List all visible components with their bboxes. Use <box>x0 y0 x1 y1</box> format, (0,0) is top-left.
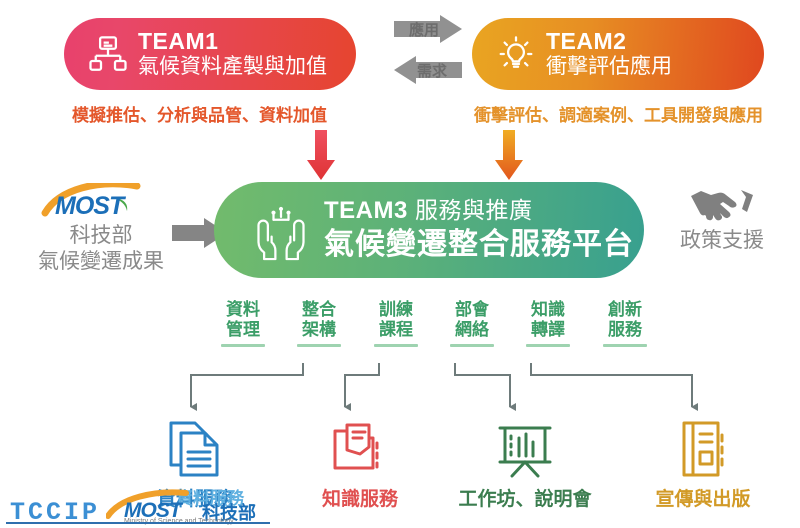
presentation-board-icon <box>450 418 600 480</box>
team2-down-arrow <box>494 130 524 182</box>
team1-code: TEAM1 <box>138 29 327 55</box>
team2-card[interactable]: TEAM2 衝擊評估應用 <box>472 18 764 90</box>
output-item-3[interactable]: 宣傳與出版 <box>628 418 778 511</box>
service-label-4[interactable]: 知識 轉譯 <box>522 300 574 347</box>
service-1-underline <box>297 344 341 347</box>
output-label-2: 工作坊、說明會 <box>450 484 600 511</box>
sitemap-icon <box>78 33 138 75</box>
team2-name: 衝擊評估應用 <box>546 55 672 79</box>
footer-most-logo: MOST 科技部 Ministry of Science and Technol… <box>106 488 266 524</box>
most-source-block: MOST 科技部 氣候變遷成果 <box>22 183 180 274</box>
output-label-1: 知識服務 <box>285 484 435 511</box>
service-0-underline <box>221 344 265 347</box>
service-0-line2: 管理 <box>217 320 269 340</box>
footer-rule <box>6 522 270 524</box>
policy-support-label: 政策支援 <box>656 228 788 254</box>
service-label-1[interactable]: 整合 架構 <box>293 300 345 347</box>
team2-code: TEAM2 <box>546 29 672 55</box>
team3-card[interactable]: TEAM3 服務與推廣 氣候變遷整合服務平台 <box>214 182 644 278</box>
arrow-down-icon <box>306 130 336 182</box>
service-5-line2: 服務 <box>599 320 651 340</box>
policy-support-block: 政策支援 <box>656 182 788 254</box>
arrow-down-icon <box>494 130 524 182</box>
output-label-3: 宣傳與出版 <box>628 484 778 511</box>
service-3-underline <box>450 344 494 347</box>
service-1-line1: 整合 <box>293 300 345 320</box>
service-label-5[interactable]: 創新 服務 <box>599 300 651 347</box>
service-label-0[interactable]: 資料 管理 <box>217 300 269 347</box>
output-item-1[interactable]: 知識服務 <box>285 418 435 511</box>
service-5-underline <box>603 344 647 347</box>
team1-caption: 模擬推估、分析與品管、資料加值 <box>72 101 327 126</box>
exchange-arrow-demand: 需求 <box>392 54 464 86</box>
exchange-arrow-apply: 應用 <box>392 13 464 45</box>
lightbulb-icon <box>486 33 546 75</box>
documents-icon <box>120 418 270 480</box>
folder-note-icon <box>285 418 435 480</box>
service-2-line1: 訓練 <box>370 300 422 320</box>
book-icon <box>628 418 778 480</box>
service-4-line1: 知識 <box>522 300 574 320</box>
team1-name: 氣候資料產製與加值 <box>138 55 327 79</box>
team3-name: 氣候變遷整合服務平台 <box>324 228 634 262</box>
most-line-2: 氣候變遷成果 <box>22 249 180 275</box>
most-line-1: 科技部 <box>22 223 180 249</box>
diagram-canvas: TEAM1 氣候資料產製與加值 模擬推估、分析與品管、資料加值 TEAM2 衝擊… <box>0 0 800 528</box>
handshake-icon <box>656 182 788 228</box>
hands-network-icon <box>238 199 324 261</box>
team3-code-row: TEAM3 服務與推廣 <box>324 198 634 225</box>
service-label-3[interactable]: 部會 網絡 <box>446 300 498 347</box>
output-item-2[interactable]: 工作坊、說明會 <box>450 418 600 511</box>
exchange-label-apply: 應用 <box>392 13 464 45</box>
team1-card[interactable]: TEAM1 氣候資料產製與加值 <box>64 18 356 90</box>
service-1-line2: 架構 <box>293 320 345 340</box>
service-0-line1: 資料 <box>217 300 269 320</box>
service-5-line1: 創新 <box>599 300 651 320</box>
exchange-label-demand: 需求 <box>392 54 464 86</box>
service-3-line2: 網絡 <box>446 320 498 340</box>
service-3-line1: 部會 <box>446 300 498 320</box>
team3-subtitle: 服務與推廣 <box>415 197 533 223</box>
service-4-underline <box>526 344 570 347</box>
team2-caption: 衝擊評估、調適案例、工具開發與應用 <box>474 101 763 126</box>
team1-down-arrow <box>306 130 336 182</box>
most-logo-text: MOST <box>55 194 123 219</box>
most-swoosh-logo: MOST <box>41 183 161 221</box>
footer-logos: TCCIP 資料服務 MOST 科技部 Ministry of Science … <box>6 486 270 526</box>
service-2-line2: 課程 <box>370 320 422 340</box>
team3-code: TEAM3 <box>324 197 408 224</box>
service-label-2[interactable]: 訓練 課程 <box>370 300 422 347</box>
service-4-line2: 轉譯 <box>522 320 574 340</box>
service-2-underline <box>374 344 418 347</box>
